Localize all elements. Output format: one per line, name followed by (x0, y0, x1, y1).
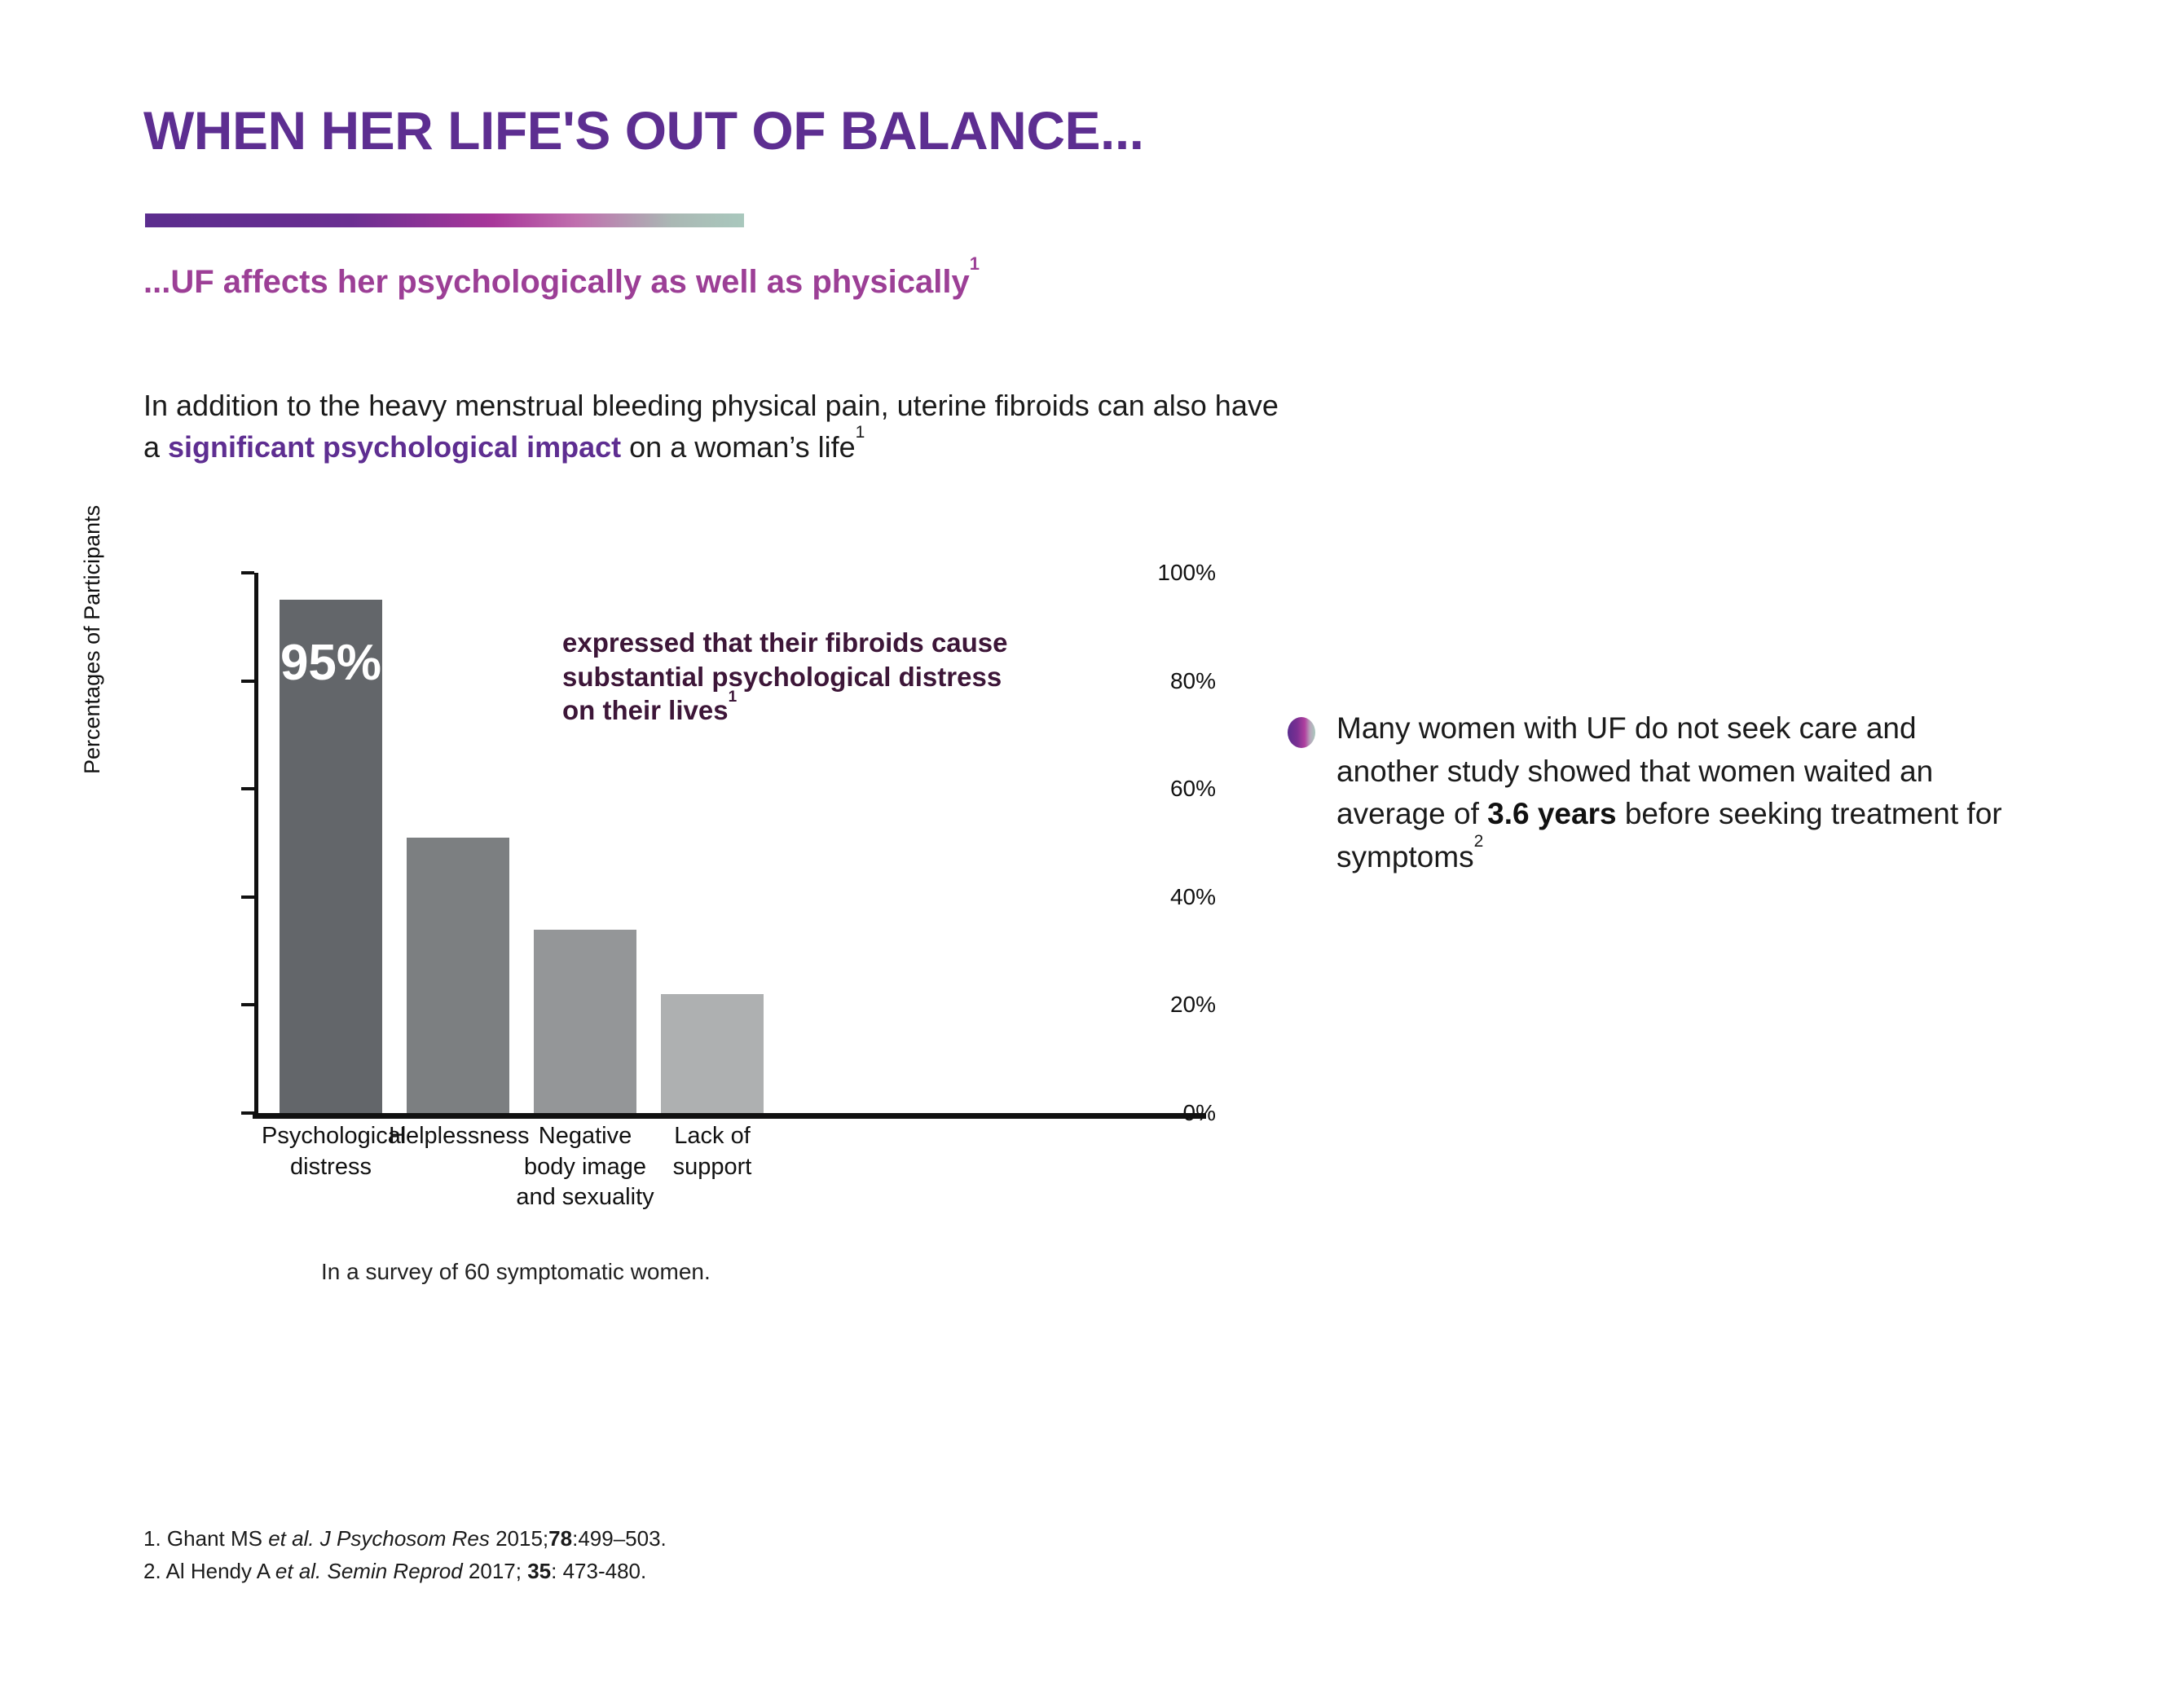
y-axis-tick-mark (241, 680, 254, 683)
reference-pages: :499–503. (572, 1526, 667, 1551)
y-axis-tick-mark (241, 571, 254, 574)
x-axis-category-label: Psychological distress (262, 1121, 400, 1182)
y-axis-tick-label: 80% (1170, 668, 1216, 694)
reference-journal: J Psychosom Res (320, 1526, 495, 1551)
intro-highlight: significant psychological impact (168, 430, 621, 464)
bar-callout-line1: expressed that their fibroids cause (562, 627, 1008, 658)
survey-note: In a survey of 60 symptomatic women. (321, 1259, 711, 1285)
bar-callout-line3: on their lives (562, 695, 729, 725)
bar-value-label: 95% (280, 634, 382, 692)
x-axis-category-label: Negative body image and sexuality (516, 1121, 654, 1213)
y-axis-tick-label: 0% (1183, 1100, 1216, 1126)
reference-number: 2. (143, 1559, 165, 1583)
y-axis-tick-label: 20% (1170, 992, 1216, 1018)
reference-journal: Semin Reprod (328, 1559, 469, 1583)
reference-volume: 78 (548, 1526, 572, 1551)
reference-volume: 35 (527, 1559, 551, 1583)
bar-1 (407, 838, 509, 1113)
reference-authors: Ghant MS (167, 1526, 268, 1551)
side-callout-text: Many women with UF do not seek care and … (1336, 707, 2005, 878)
reference-authors: Al Hendy A (165, 1559, 275, 1583)
title-gradient-rule (145, 213, 744, 227)
x-axis-line (253, 1113, 1206, 1119)
side-callout-emphasis: 3.6 years (1487, 797, 1616, 830)
page-subtitle-text: ...UF affects her psychologically as wel… (143, 264, 970, 300)
bullet-dot-icon (1288, 717, 1315, 748)
reference-item: 2. Al Hendy A et al. Semin Reprod 2017; … (143, 1555, 667, 1587)
y-axis-tick-mark (241, 1003, 254, 1006)
reference-etal: et al. (275, 1559, 328, 1583)
bar-3 (661, 994, 764, 1113)
x-axis-category-label: Lack of support (643, 1121, 782, 1182)
bar-callout-footnote-ref: 1 (729, 689, 738, 706)
side-callout: Many women with UF do not seek care and … (1288, 707, 2005, 878)
page-subtitle: ...UF affects her psychologically as wel… (143, 262, 980, 301)
bar-callout-line2: substantial psychological distress (562, 662, 1002, 692)
y-axis-ticks (143, 530, 241, 1116)
page-title-text: WHEN HER LIFE'S OUT OF BALANCE... (143, 100, 1144, 161)
y-axis-tick-label: 60% (1170, 776, 1216, 802)
bar-callout-text: expressed that their fibroids cause subs… (562, 626, 1035, 728)
side-callout-footnote-ref: 2 (1474, 832, 1484, 851)
y-axis-tick-mark (241, 787, 254, 790)
y-axis-tick-label: 40% (1170, 884, 1216, 910)
subtitle-footnote-ref: 1 (970, 253, 980, 274)
reference-year: 2015; (495, 1526, 548, 1551)
y-axis-tick-mark (241, 896, 254, 899)
intro-paragraph: In addition to the heavy menstrual bleed… (143, 385, 1301, 468)
reference-etal: et al. (268, 1526, 320, 1551)
y-axis-tick-label: 100% (1157, 560, 1216, 586)
intro-text-part2: on a woman’s life (621, 430, 856, 464)
y-axis-title: Percentages of Participants (80, 505, 105, 774)
reference-year: 2017; (469, 1559, 527, 1583)
reference-item: 1. Ghant MS et al. J Psychosom Res 2015;… (143, 1522, 667, 1555)
intro-footnote-ref: 1 (856, 423, 865, 442)
reference-pages: : 473-480. (551, 1559, 646, 1583)
page-title: WHEN HER LIFE'S OUT OF BALANCE... (143, 103, 1144, 159)
bar-2 (534, 930, 636, 1113)
reference-number: 1. (143, 1526, 167, 1551)
bar-0: 95% (280, 600, 382, 1113)
references-list: 1. Ghant MS et al. J Psychosom Res 2015;… (143, 1522, 667, 1588)
bar-chart: Percentages of Participants 95% expresse… (143, 530, 1235, 1149)
x-axis-category-label: Helplessness (389, 1121, 527, 1152)
y-axis-tick-mark (241, 1111, 254, 1115)
